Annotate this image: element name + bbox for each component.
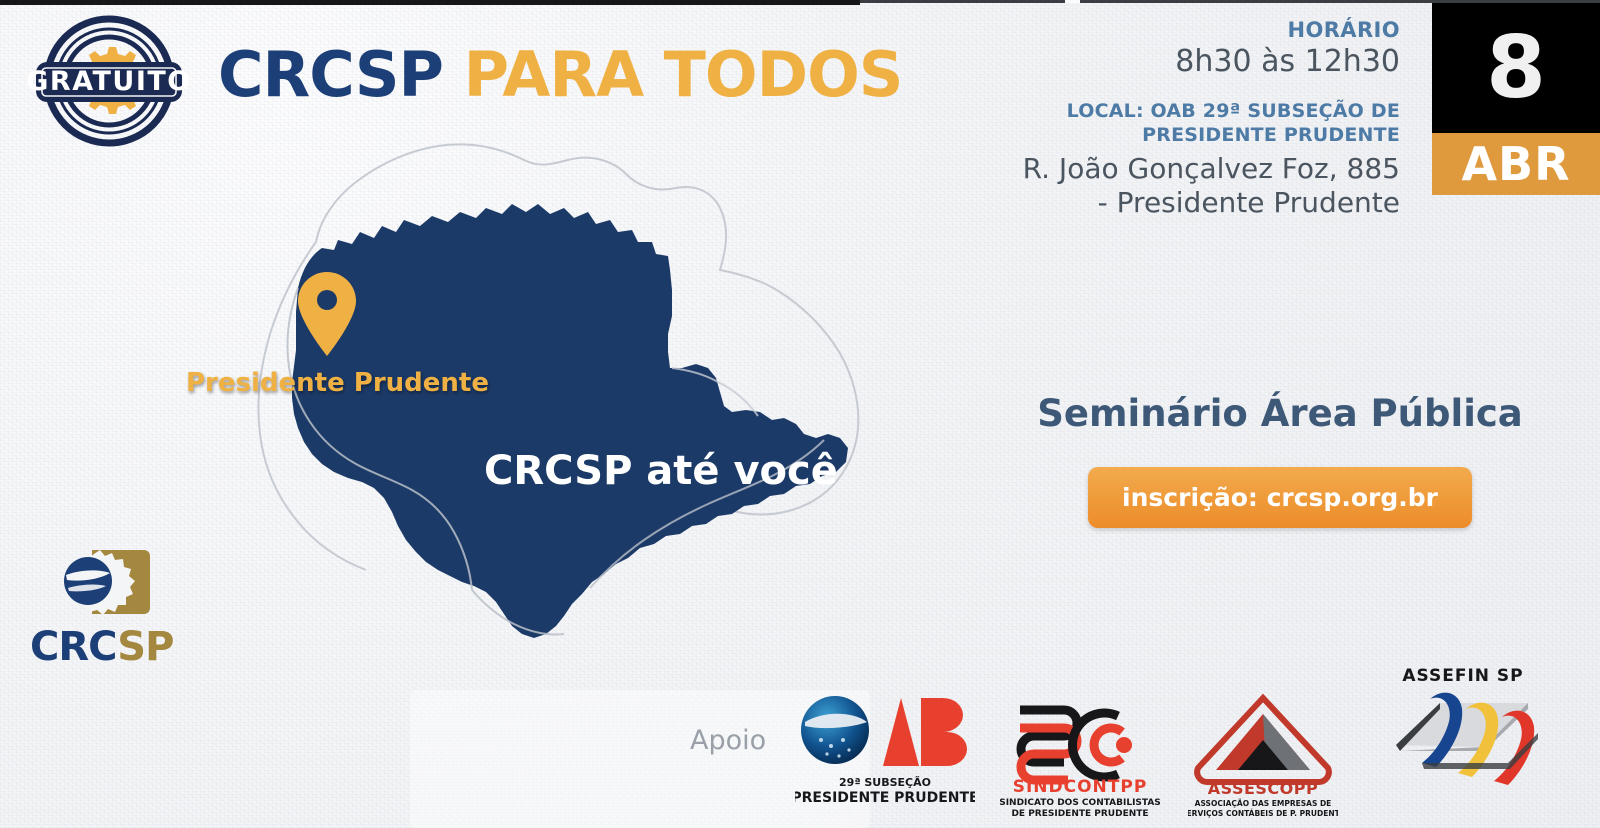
- event-info: HORÁRIO 8h30 às 12h30 LOCAL: OAB 29ª SUB…: [980, 18, 1400, 220]
- sponsor-sindcontpp-line1: SINDICATO DOS CONTABILISTAS: [1000, 798, 1160, 808]
- map-pin-label: Presidente Prudente: [186, 368, 489, 398]
- local-line-2: PRESIDENTE PRUDENTE: [980, 123, 1400, 147]
- poster-canvas: GRATUITO CRCSP PARA TODOS Presidente Pru…: [0, 0, 1600, 828]
- title-part-crcsp: CRCSP: [218, 38, 443, 111]
- map-caption: CRCSP até você: [484, 448, 838, 494]
- sponsor-assescopp-line1: ASSOCIAÇÃO DAS EMPRESAS DE: [1195, 799, 1332, 808]
- crcsp-logo: CRCSP: [18, 548, 193, 663]
- sponsor-oab-line1: 29ª SUBSEÇÃO: [839, 776, 931, 789]
- crcsp-globe-gear-icon: [48, 548, 156, 622]
- title-part-para-todos: PARA TODOS: [464, 38, 903, 111]
- horario-value: 8h30 às 12h30: [980, 44, 1400, 79]
- event-day: 8: [1432, 3, 1600, 133]
- address-info: R. João Gonçalvez Foz, 885 - Presidente …: [980, 152, 1400, 220]
- address-line-2: - Presidente Prudente: [980, 186, 1400, 220]
- sponsor-logo-assescopp: ASSESCOPP ASSOCIAÇÃO DAS EMPRESAS DE SER…: [1188, 690, 1338, 818]
- event-month: ABR: [1432, 133, 1600, 195]
- crcsp-wordmark-sp: SP: [117, 624, 173, 670]
- sao-paulo-silhouette: [292, 204, 848, 638]
- local-info: LOCAL: OAB 29ª SUBSEÇÃO DE PRESIDENTE PR…: [980, 99, 1400, 148]
- sponsor-logo-sindcontpp: SINDCONTPP SINDICATO DOS CONTABILISTAS D…: [1000, 688, 1160, 818]
- map-pin-marker: [296, 270, 358, 358]
- top-strip-left: [0, 0, 860, 5]
- horario-label: HORÁRIO: [980, 18, 1400, 42]
- sponsor-oab-line2: PRESIDENTE PRUDENTE: [795, 790, 975, 806]
- crcsp-wordmark-crc: CRC: [30, 624, 117, 670]
- sponsor-assefin-name: ASSEFIN SP: [1402, 666, 1523, 686]
- map-pin-icon: [298, 272, 356, 356]
- sponsors-label: Apoio: [690, 725, 766, 756]
- registration-button[interactable]: inscrição: crcsp.org.br: [1088, 467, 1472, 528]
- sponsor-assescopp-name: ASSESCOPP: [1208, 779, 1318, 798]
- top-strip-gap: [1065, 0, 1080, 3]
- badge-label: GRATUITO: [28, 66, 190, 97]
- address-line-1: R. João Gonçalvez Foz, 885: [980, 152, 1400, 186]
- sponsor-assescopp-line2: SERVIÇOS CONTÁBEIS DE P. PRUDENTE: [1188, 809, 1338, 818]
- sponsor-sindcontpp-name: SINDCONTPP: [1013, 777, 1148, 797]
- sponsor-sindcontpp-line2: DE PRESIDENTE PRUDENTE: [1011, 809, 1148, 818]
- sponsor-logo-assefin-sp: ASSEFIN SP: [1378, 655, 1548, 805]
- local-line-1: LOCAL: OAB 29ª SUBSEÇÃO DE: [980, 99, 1400, 123]
- seminar-title: Seminário Área Pública: [1000, 392, 1560, 435]
- gratuito-badge: GRATUITO: [28, 12, 190, 150]
- event-date-block: 8 ABR: [1432, 3, 1600, 195]
- crcsp-wordmark: CRCSP: [30, 624, 193, 670]
- sao-paulo-map: [120, 120, 940, 680]
- page-title: CRCSP PARA TODOS: [218, 38, 902, 111]
- seminar-section: Seminário Área Pública inscrição: crcsp.…: [1000, 392, 1560, 528]
- sponsor-logo-oab: 29ª SUBSEÇÃO PRESIDENTE PRUDENTE: [795, 678, 975, 818]
